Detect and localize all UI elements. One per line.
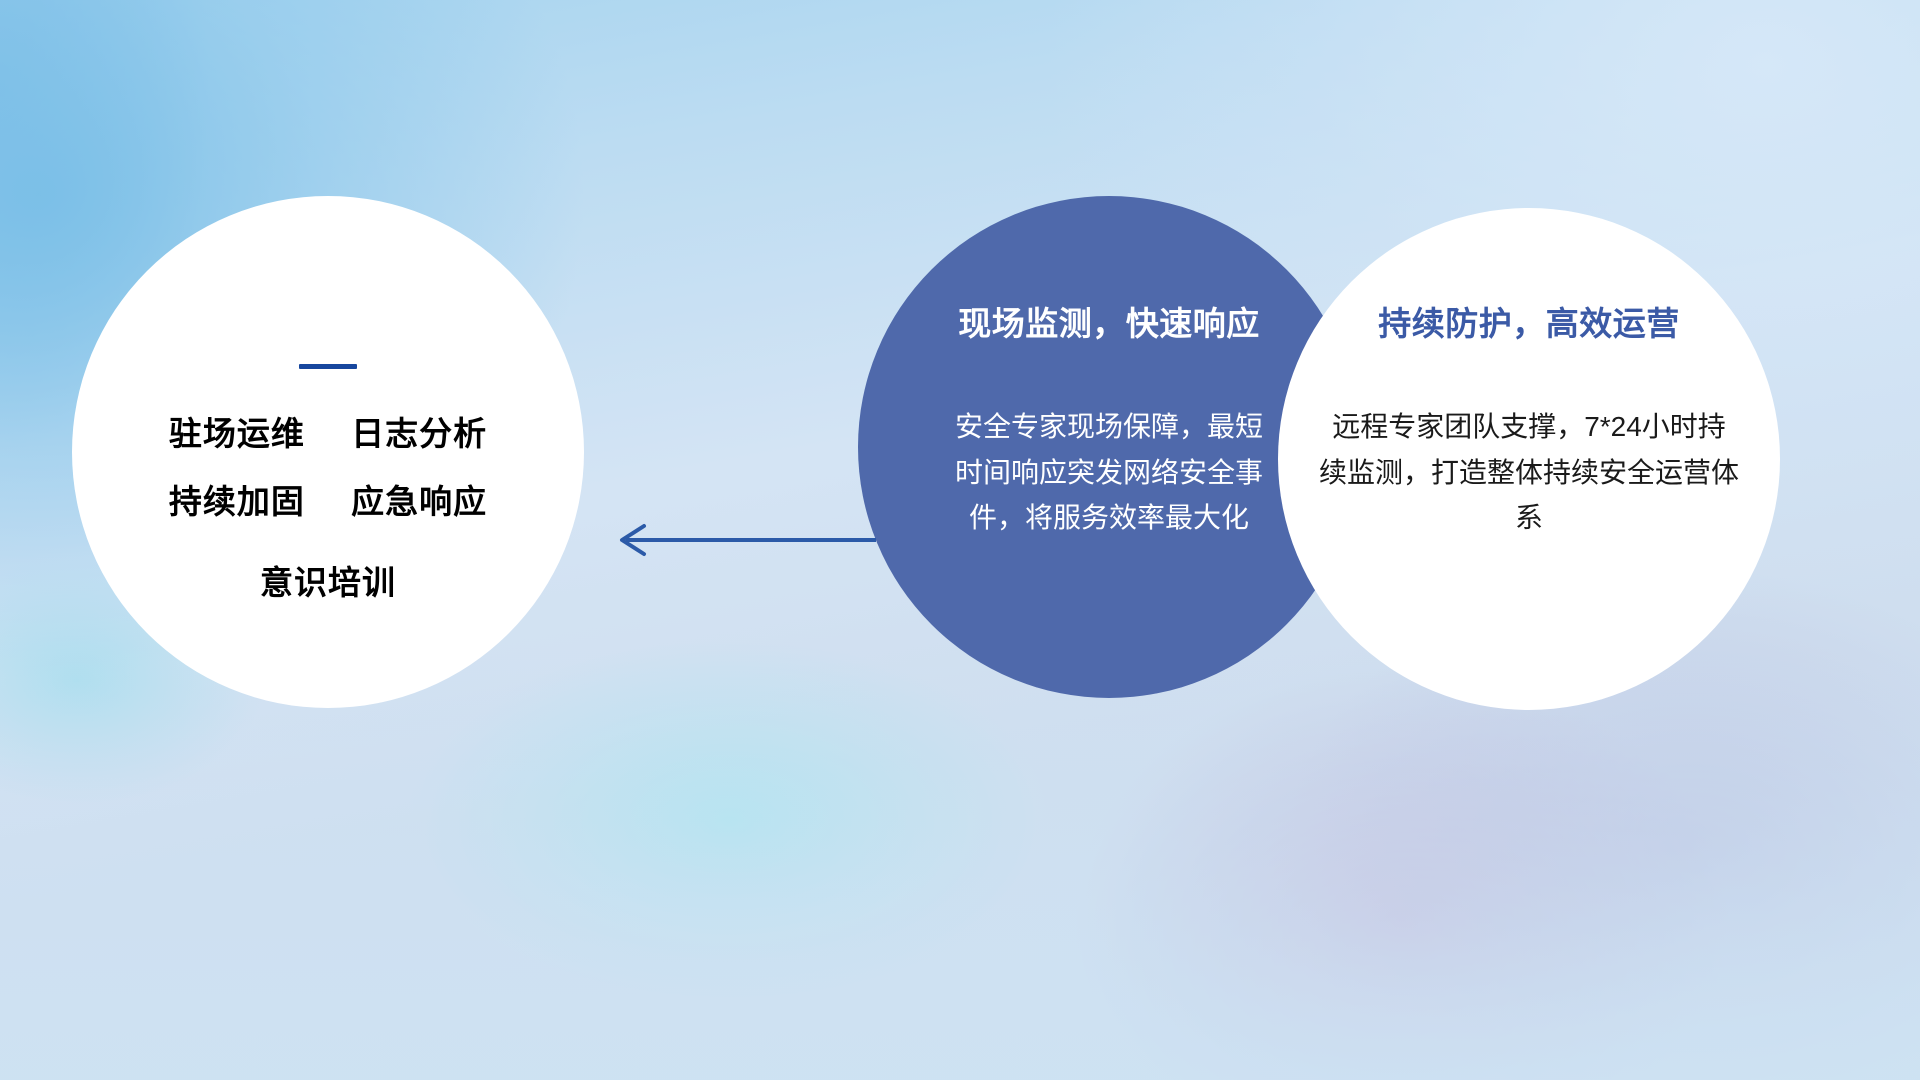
left-circle-line-1: 驻场运维 日志分析 [169,417,487,450]
left-circle-line-2: 持续加固 应急响应 [169,485,487,518]
middle-service-circle[interactable]: 现场监测，快速响应 安全专家现场保障，最短时间响应突发网络安全事件，将服务效率最… [858,196,1360,698]
service-tag-rizhifenxi: 日志分析 [351,415,487,452]
service-tag-yingjixiangying: 应急响应 [351,483,487,520]
service-tag-yishipeixun: 意识培训 [260,566,396,599]
left-circle-content: 驻场运维 日志分析 持续加固 应急响应 意识培训 [72,196,584,708]
arrow-left-icon [600,520,876,560]
service-tag-chixujiagu: 持续加固 [169,483,305,520]
right-circle-title: 持续防护，高效运营 [1378,306,1680,342]
middle-circle-content: 现场监测，快速响应 安全专家现场保障，最短时间响应突发网络安全事件，将服务效率最… [858,196,1360,698]
slide-canvas: 驻场运维 日志分析 持续加固 应急响应 意识培训 现场监测，快速响应 安全专家现… [0,0,1920,1080]
service-tag-zhuchangyunwei: 驻场运维 [169,415,305,452]
middle-circle-title: 现场监测，快速响应 [958,306,1260,342]
middle-circle-body: 安全专家现场保障，最短时间响应突发网络安全事件，将服务效率最大化 [944,404,1274,540]
left-service-circle[interactable]: 驻场运维 日志分析 持续加固 应急响应 意识培训 [72,196,584,708]
right-circle-body: 远程专家团队支撑，7*24小时持续监测，打造整体持续安全运营体系 [1319,404,1739,540]
divider-dash-icon [299,364,357,369]
